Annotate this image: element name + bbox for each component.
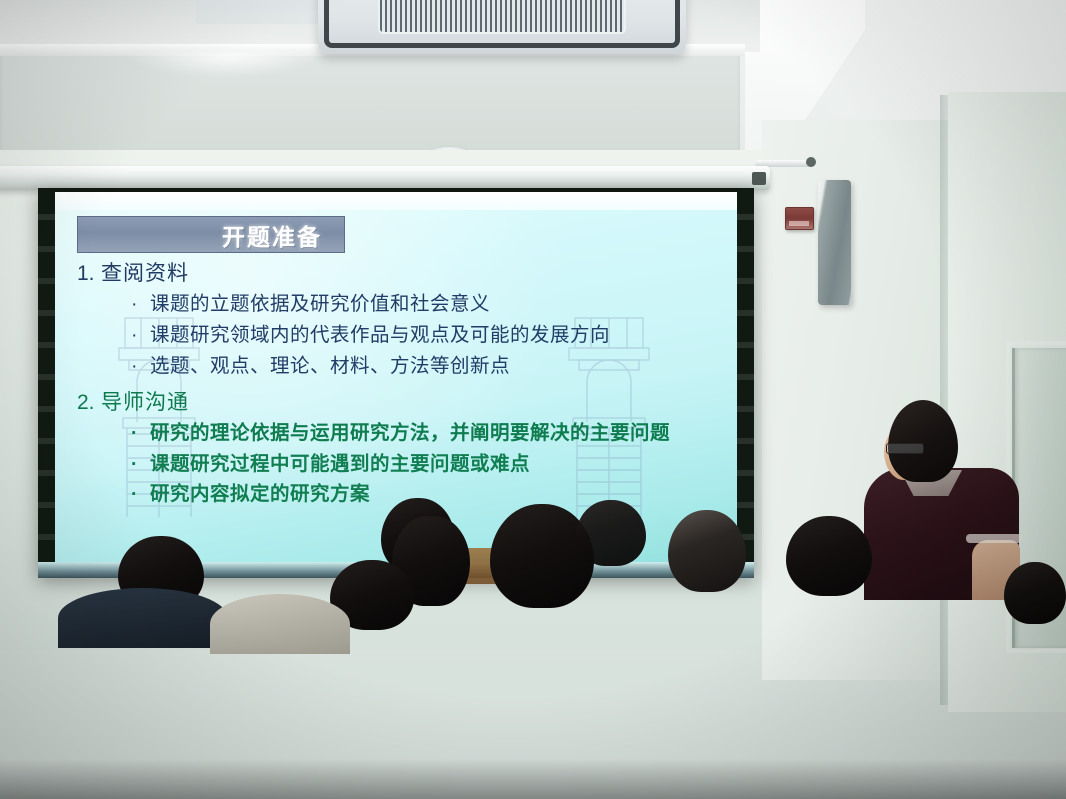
audience-head	[668, 510, 746, 592]
auditorium-seat[interactable]	[372, 726, 602, 799]
ac-unit-light-glow	[120, 52, 330, 78]
bullet-text: 研究内容拟定的研究方案	[150, 484, 370, 506]
slide-title-bar: 开题准备	[77, 216, 345, 253]
bullet-text: 课题的立题依据及研究价值和社会意义	[150, 294, 490, 316]
slide-bullet: · 课题的立题依据及研究价值和社会意义	[55, 294, 737, 316]
screen-tension-strip-right	[737, 188, 754, 576]
section-number: 1.	[55, 262, 101, 285]
glasses-icon	[886, 443, 924, 454]
bullet-dot-icon: ·	[131, 484, 150, 506]
auditorium-seat[interactable]	[856, 694, 1066, 799]
bullet-dot-icon: ·	[131, 294, 150, 316]
slide-bullet: · 课题研究过程中可能遇到的主要问题或难点	[55, 454, 737, 476]
ceiling-access-panel	[196, 0, 326, 24]
presenter-sleeve-trim	[966, 534, 1022, 543]
projection-screen-roller	[0, 166, 770, 190]
auditorium-seat[interactable]	[610, 708, 850, 799]
auditorium-seat[interactable]	[0, 712, 162, 799]
section-heading-text: 查阅资料	[101, 262, 189, 285]
bullet-text: 选题、观点、理论、材料、方法等创新点	[150, 356, 510, 378]
bullet-dot-icon: ·	[131, 423, 150, 445]
bullet-dot-icon: ·	[131, 454, 150, 476]
section-heading-text: 导师沟通	[101, 391, 189, 414]
conduit-end-cap	[806, 157, 816, 167]
bullet-text: 研究的理论依据与运用研究方法，并阐明要解决的主要问题	[150, 423, 670, 445]
slide-section-heading: 1. 查阅资料	[55, 262, 737, 285]
slide-section-heading: 2. 导师沟通	[55, 391, 737, 414]
slide-bullet: · 选题、观点、理论、材料、方法等创新点	[55, 356, 737, 378]
auditorium-seat[interactable]	[158, 726, 368, 799]
section-number: 2.	[55, 391, 101, 414]
ac-cassette-unit	[318, 0, 686, 54]
screen-tension-strip-left	[38, 188, 55, 576]
lecture-hall-photo: 开题准备 1. 查阅资料 · 课题的立题依据及研究价值和社会意义 · 课题研究领…	[0, 0, 1066, 799]
slide-bullet: · 研究的理论依据与运用研究方法，并阐明要解决的主要问题	[55, 423, 737, 445]
audience-head	[576, 500, 646, 566]
slide-title: 开题准备	[222, 218, 322, 252]
ac-vent-grille-icon	[380, 0, 624, 32]
bullet-text: 课题研究领域内的代表作品与观点及可能的发展方向	[150, 325, 610, 347]
wall-speaker-icon	[818, 180, 851, 305]
ceiling-soffit-face	[0, 50, 740, 155]
slide-bullet: · 课题研究领域内的代表作品与观点及可能的发展方向	[55, 325, 737, 347]
bullet-dot-icon: ·	[131, 356, 150, 378]
bullet-dot-icon: ·	[131, 325, 150, 347]
slide-bullet: · 研究内容拟定的研究方案	[55, 484, 737, 506]
bullet-text: 课题研究过程中可能遇到的主要问题或难点	[150, 454, 530, 476]
projection-screen-roller-cap	[752, 172, 766, 185]
slide-top-band	[55, 192, 737, 210]
slide-body: 1. 查阅资料 · 课题的立题依据及研究价值和社会意义 · 课题研究领域内的代表…	[55, 258, 737, 506]
alarm-box-icon	[785, 207, 814, 230]
